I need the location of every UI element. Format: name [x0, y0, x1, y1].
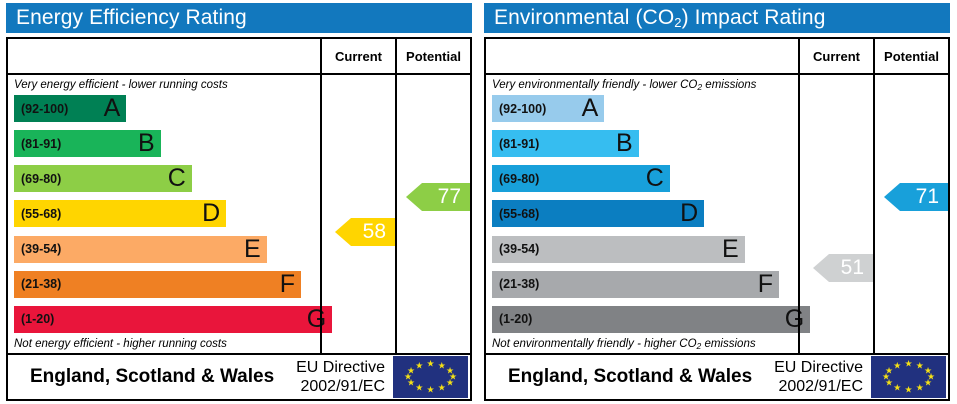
current-column-co2: 51 — [798, 75, 873, 353]
table-header-row: Current Potential — [8, 39, 470, 75]
band-range-f: (21-38) — [14, 277, 61, 291]
co2-impact-title: Environmental (CO2) Impact Rating — [484, 3, 950, 33]
band-b: (81-91)B — [492, 130, 639, 157]
eu-star-icon: ★ — [407, 366, 415, 375]
band-range-c: (69-80) — [492, 172, 539, 186]
band-range-g: (1-20) — [492, 312, 532, 326]
page-title-co2-suffix: ) Impact Rating — [682, 6, 826, 29]
eu-star-icon: ★ — [438, 383, 446, 392]
bands-column: Very energy efficient - lower running co… — [8, 75, 320, 353]
note-bottom: Not energy efficient - higher running co… — [8, 334, 320, 353]
directive-line-1-co2: EU Directive — [774, 358, 863, 377]
eu-star-icon: ★ — [904, 360, 912, 369]
energy-efficiency-title: Energy Efficiency Rating — [6, 3, 472, 33]
note-top-co2-suffix: emissions — [702, 79, 756, 91]
potential-rating-arrow-co2-impact: 71 — [884, 183, 948, 211]
potential-column-co2: 71 — [873, 75, 948, 353]
note-top-co2-text: Very environmentally friendly - lower CO — [492, 79, 697, 91]
region-label-co2: England, Scotland & Wales — [486, 366, 774, 388]
band-range-a: (92-100) — [492, 102, 546, 116]
band-range-d: (55-68) — [14, 207, 61, 221]
co2-subscript-note-bottom: 2 — [697, 341, 702, 351]
header-blank-cell — [8, 39, 320, 73]
band-letter-c: C — [646, 166, 664, 191]
eu-star-icon: ★ — [446, 379, 454, 388]
page-title: Energy Efficiency Rating — [16, 6, 247, 29]
band-letter-a: A — [582, 96, 599, 121]
eu-star-icon: ★ — [426, 360, 434, 369]
band-letter-a: A — [104, 96, 121, 121]
band-letter-d: D — [680, 201, 698, 226]
note-bottom-co2: Not environmentally friendly - higher CO… — [486, 334, 798, 353]
band-a: (92-100)A — [14, 95, 126, 122]
band-g: (1-20)G — [14, 306, 332, 333]
band-range-e: (39-54) — [492, 242, 539, 256]
eu-flag-icon-co2: ★★★★★★★★★★★★ — [871, 356, 946, 398]
band-list-energy: (92-100)A(81-91)B(69-80)C(55-68)D(39-54)… — [8, 94, 320, 334]
directive-line-1: EU Directive — [296, 358, 385, 377]
note-top: Very energy efficient - lower running co… — [8, 75, 320, 94]
eu-star-icon: ★ — [415, 383, 423, 392]
band-f: (21-38)F — [14, 271, 301, 298]
eu-star-icon: ★ — [916, 383, 924, 392]
certificate-footer-co2: England, Scotland & Wales EU Directive 2… — [486, 353, 948, 399]
band-range-a: (92-100) — [14, 102, 68, 116]
co2-impact-certificate: Environmental (CO2) Impact Rating Curren… — [478, 0, 956, 404]
band-letter-d: D — [202, 201, 220, 226]
bands-column-co2: Very environmentally friendly - lower CO… — [486, 75, 798, 353]
region-label: England, Scotland & Wales — [8, 366, 296, 388]
directive-line-2: 2002/91/EC — [296, 377, 385, 396]
energy-efficiency-certificate: Energy Efficiency Rating Current Potenti… — [0, 0, 478, 404]
table-body-row: Very energy efficient - lower running co… — [8, 75, 470, 353]
eu-star-icon: ★ — [924, 379, 932, 388]
eu-star-icon: ★ — [426, 385, 434, 394]
band-e: (39-54)E — [14, 236, 267, 263]
eu-star-icon: ★ — [916, 362, 924, 371]
eu-directive-label-co2: EU Directive 2002/91/EC — [774, 358, 871, 396]
band-d: (55-68)D — [14, 200, 226, 227]
band-e: (39-54)E — [492, 236, 745, 263]
energy-efficiency-table: Current Potential Very energy efficient … — [6, 37, 472, 401]
header-current: Current — [320, 39, 395, 73]
eu-star-icon: ★ — [415, 362, 423, 371]
directive-line-2-co2: 2002/91/EC — [774, 377, 863, 396]
co2-impact-table: Current Potential Very environmentally f… — [484, 37, 950, 401]
band-letter-e: E — [722, 237, 739, 262]
band-list-co2: (92-100)A(81-91)B(69-80)C(55-68)D(39-54)… — [486, 94, 798, 334]
band-letter-f: F — [280, 272, 295, 297]
band-letter-b: B — [616, 131, 633, 156]
eu-star-icon: ★ — [438, 362, 446, 371]
band-range-e: (39-54) — [14, 242, 61, 256]
band-letter-c: C — [168, 166, 186, 191]
epc-rating-charts: Energy Efficiency Rating Current Potenti… — [0, 0, 957, 404]
eu-flag-icon: ★★★★★★★★★★★★ — [393, 356, 468, 398]
band-a: (92-100)A — [492, 95, 604, 122]
band-g: (1-20)G — [492, 306, 810, 333]
header-potential: Potential — [395, 39, 470, 73]
co2-subscript-note-top: 2 — [697, 82, 702, 92]
eu-star-icon: ★ — [893, 362, 901, 371]
header-current-co2: Current — [798, 39, 873, 73]
eu-directive-label: EU Directive 2002/91/EC — [296, 358, 393, 396]
potential-rating-arrow-energy-efficiency: 77 — [406, 183, 470, 211]
band-letter-b: B — [138, 131, 155, 156]
band-b: (81-91)B — [14, 130, 161, 157]
current-rating-arrow-energy-efficiency: 58 — [335, 218, 395, 246]
band-letter-e: E — [244, 237, 261, 262]
eu-star-icon: ★ — [893, 383, 901, 392]
band-c: (69-80)C — [14, 165, 192, 192]
table-body-row-co2: Very environmentally friendly - lower CO… — [486, 75, 948, 353]
eu-star-icon: ★ — [885, 366, 893, 375]
current-rating-arrow-co2-impact: 51 — [813, 254, 873, 282]
band-letter-f: F — [758, 272, 773, 297]
certificate-footer: England, Scotland & Wales EU Directive 2… — [8, 353, 470, 399]
note-bottom-co2-text: Not environmentally friendly - higher CO — [492, 338, 697, 350]
header-blank-cell-co2 — [486, 39, 798, 73]
band-range-d: (55-68) — [492, 207, 539, 221]
current-column-energy: 58 — [320, 75, 395, 353]
band-range-g: (1-20) — [14, 312, 54, 326]
page-title-co2: Environmental (CO — [494, 6, 674, 29]
band-range-c: (69-80) — [14, 172, 61, 186]
co2-subscript-title: 2 — [674, 15, 681, 30]
band-f: (21-38)F — [492, 271, 779, 298]
note-top-co2: Very environmentally friendly - lower CO… — [486, 75, 798, 94]
band-range-b: (81-91) — [14, 137, 61, 151]
band-range-f: (21-38) — [492, 277, 539, 291]
eu-star-icon: ★ — [904, 385, 912, 394]
band-d: (55-68)D — [492, 200, 704, 227]
header-potential-co2: Potential — [873, 39, 948, 73]
note-bottom-co2-suffix: emissions — [701, 338, 755, 350]
band-range-b: (81-91) — [492, 137, 539, 151]
band-c: (69-80)C — [492, 165, 670, 192]
potential-column-energy: 77 — [395, 75, 470, 353]
table-header-row-co2: Current Potential — [486, 39, 948, 75]
